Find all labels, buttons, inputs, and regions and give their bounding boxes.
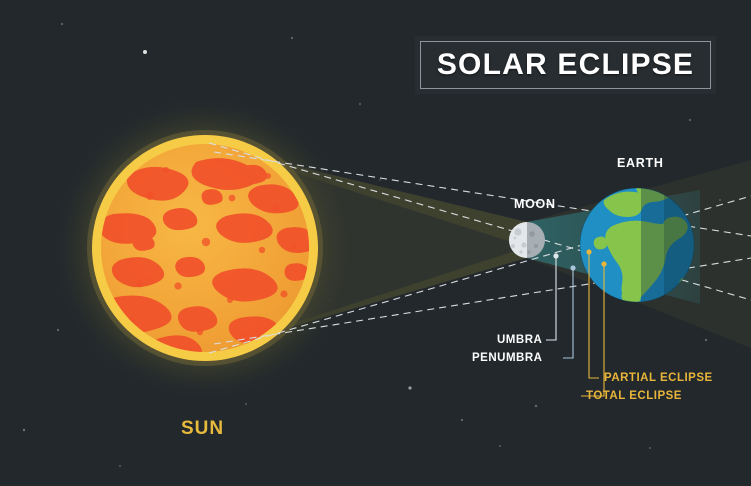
sun-label: SUN	[181, 418, 224, 440]
penumbra-label: PENUMBRA	[472, 352, 542, 364]
total-eclipse-label: TOTAL ECLIPSE	[586, 390, 682, 402]
star	[359, 103, 361, 105]
star	[379, 179, 381, 181]
star	[291, 37, 293, 39]
moon-label: MOON	[514, 197, 556, 211]
page-title: SOLAR ECLIPSE	[437, 48, 694, 82]
callout-dot-partial	[586, 249, 591, 254]
solar-eclipse-infographic: SOLAR ECLIPSE SUN MOON EARTH UMBRA PENUM…	[0, 0, 751, 486]
callout-dot-penumbra	[570, 265, 575, 270]
star	[535, 405, 537, 407]
star	[649, 447, 651, 449]
callout-dot-total	[601, 261, 606, 266]
sun	[53, 96, 357, 400]
star	[689, 119, 691, 121]
star	[143, 50, 147, 54]
star	[23, 429, 25, 431]
callout-dot-umbra	[553, 253, 558, 258]
star	[499, 445, 501, 447]
title-box: SOLAR ECLIPSE	[415, 36, 716, 94]
star	[705, 339, 707, 341]
earth-label: EARTH	[617, 156, 664, 170]
star	[461, 419, 463, 421]
star	[408, 386, 411, 389]
partial-eclipse-label: PARTIAL ECLIPSE	[604, 372, 713, 384]
star	[245, 403, 247, 405]
star	[119, 465, 121, 467]
star	[57, 329, 59, 331]
star	[61, 23, 63, 25]
umbra-label: UMBRA	[497, 334, 542, 346]
